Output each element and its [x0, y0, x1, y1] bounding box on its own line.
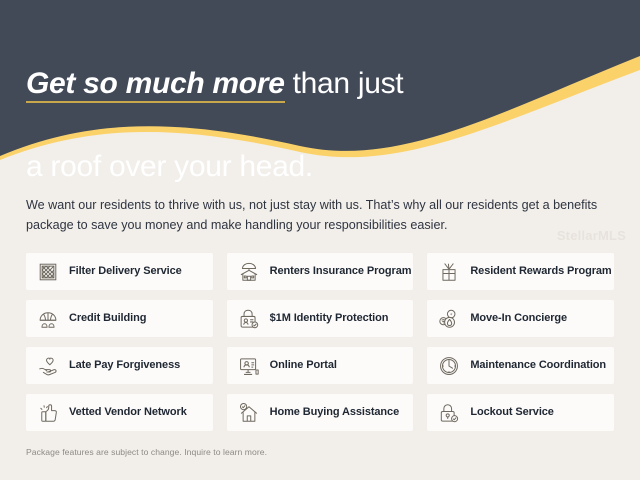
benefit-card[interactable]: Vetted Vendor Network: [26, 394, 213, 431]
benefits-grid: Filter Delivery Service Renters Insuranc…: [26, 253, 614, 431]
filter-mesh-icon: [36, 260, 60, 284]
disclaimer-text: Package features are subject to change. …: [26, 447, 267, 457]
benefit-card[interactable]: Filter Delivery Service: [26, 253, 213, 290]
thumbs-up-icon: [36, 401, 60, 425]
monitor-user-icon: [237, 354, 261, 378]
headline-emphasis: Get so much more: [26, 67, 285, 103]
page-title: Get so much more than just a roof over y…: [26, 22, 586, 185]
benefit-label: Resident Rewards Program: [470, 265, 611, 278]
benefit-card[interactable]: Late Pay Forgiveness: [26, 347, 213, 384]
intro-paragraph: We want our residents to thrive with us,…: [26, 195, 618, 236]
benefit-label: Maintenance Coordination: [470, 359, 606, 372]
benefit-label: Vetted Vendor Network: [69, 406, 187, 419]
id-lock-icon: [237, 307, 261, 331]
benefit-card[interactable]: Renters Insurance Program: [227, 253, 414, 290]
benefit-card[interactable]: Maintenance Coordination: [427, 347, 614, 384]
benefit-label: $1M Identity Protection: [270, 312, 389, 325]
utility-circles-icon: [437, 307, 461, 331]
padlock-check-icon: [437, 401, 461, 425]
watermark-label: StellarMLS: [557, 228, 626, 243]
benefit-label: Renters Insurance Program: [270, 265, 412, 278]
benefit-card[interactable]: Move-In Concierge: [427, 300, 614, 337]
benefit-label: Credit Building: [69, 312, 146, 325]
hero-banner: Get so much more than just a roof over y…: [0, 0, 640, 185]
benefit-label: Home Buying Assistance: [270, 406, 399, 419]
benefits-infographic: Get so much more than just a roof over y…: [0, 0, 640, 480]
benefit-card[interactable]: $1M Identity Protection: [227, 300, 414, 337]
benefit-label: Lockout Service: [470, 406, 553, 419]
benefit-card[interactable]: Resident Rewards Program: [427, 253, 614, 290]
benefit-label: Online Portal: [270, 359, 337, 372]
headline-rest: than just: [285, 67, 404, 100]
hand-heart-icon: [36, 354, 60, 378]
clock-icon: [437, 354, 461, 378]
benefit-label: Move-In Concierge: [470, 312, 567, 325]
benefit-card[interactable]: Lockout Service: [427, 394, 614, 431]
benefit-card[interactable]: Home Buying Assistance: [227, 394, 414, 431]
bank-dome-icon: [36, 307, 60, 331]
benefit-card[interactable]: Online Portal: [227, 347, 414, 384]
house-umbrella-icon: [237, 260, 261, 284]
headline-line-two: a roof over your head.: [26, 150, 313, 183]
benefit-label: Late Pay Forgiveness: [69, 359, 180, 372]
house-check-icon: [237, 401, 261, 425]
gift-icon: [437, 260, 461, 284]
benefit-label: Filter Delivery Service: [69, 265, 182, 278]
benefit-card[interactable]: Credit Building: [26, 300, 213, 337]
